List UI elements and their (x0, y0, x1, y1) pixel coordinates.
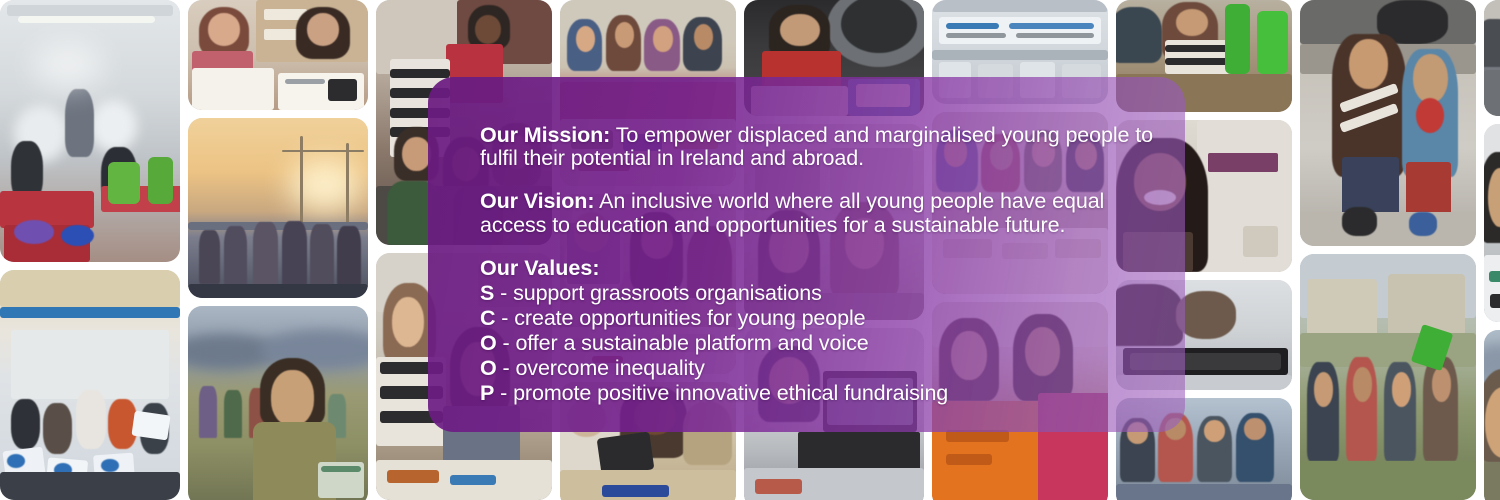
value-sep-s: - (494, 281, 513, 305)
value-text-o2: overcome inequality (515, 356, 704, 380)
value-sep-o1: - (497, 331, 516, 355)
value-sep-c: - (495, 306, 514, 330)
value-letter-o2: O (480, 356, 497, 380)
photo-boy-portrait-outdoors (1484, 330, 1500, 500)
collage-column-8 (1300, 0, 1476, 500)
photo-youth-group-at-sunset (188, 118, 368, 298)
value-text-s: support grassroots organisations (513, 281, 822, 305)
photo-two-women-holding-worksheets (188, 0, 368, 110)
value-letter-c: C (480, 306, 495, 330)
collage-hero-banner: Our Mission: To empower displaced and ma… (0, 0, 1500, 500)
value-item-c: C - create opportunities for young peopl… (480, 306, 1160, 331)
mission-label: Our Mission: (480, 123, 610, 147)
value-item-s: S - support grassroots organisations (480, 281, 1160, 306)
vision-paragraph: Our Vision: An inclusive world where all… (480, 190, 1160, 236)
value-letter-o1: O (480, 331, 497, 355)
values-block: Our Values: S - support grassroots organ… (480, 257, 1160, 406)
value-sep-p: - (494, 381, 513, 405)
mission-paragraph: Our Mission: To empower displaced and ma… (480, 124, 1160, 170)
photo-group-celebrating-with-certificates (0, 270, 180, 500)
vision-label: Our Vision: (480, 189, 594, 213)
vision-block: Our Vision: An inclusive world where all… (480, 190, 1160, 236)
value-letter-s: S (480, 281, 494, 305)
value-item-o2: O - overcome inequality (480, 356, 1160, 381)
photo-children-outside-tents (1300, 254, 1476, 500)
value-item-p: P - promote positive innovative ethical … (480, 381, 1160, 406)
value-text-c: create opportunities for young people (514, 306, 865, 330)
mission-vision-values-text: Our Mission: To empower displaced and ma… (480, 124, 1160, 406)
photo-man-and-boy-outdoors (1300, 0, 1476, 246)
mission-block: Our Mission: To empower displaced and ma… (480, 124, 1160, 170)
values-heading: Our Values: (480, 257, 1160, 280)
collage-column-2 (188, 0, 368, 500)
photo-boy-in-mountain-landscape (188, 306, 368, 500)
collage-column-1 (0, 0, 180, 500)
value-item-o1: O - offer a sustainable platform and voi… (480, 331, 1160, 356)
photo-classroom-students-holding-papers (0, 0, 180, 262)
value-sep-o2: - (497, 356, 516, 380)
value-text-p: promote positive innovative ethical fund… (513, 381, 948, 405)
photo-camp-street-scene (1484, 0, 1500, 116)
collage-column-9 (1484, 0, 1500, 500)
value-text-o1: offer a sustainable platform and voice (515, 331, 868, 355)
value-letter-p: P (480, 381, 494, 405)
photo-student-writing-at-desk (1484, 124, 1500, 322)
